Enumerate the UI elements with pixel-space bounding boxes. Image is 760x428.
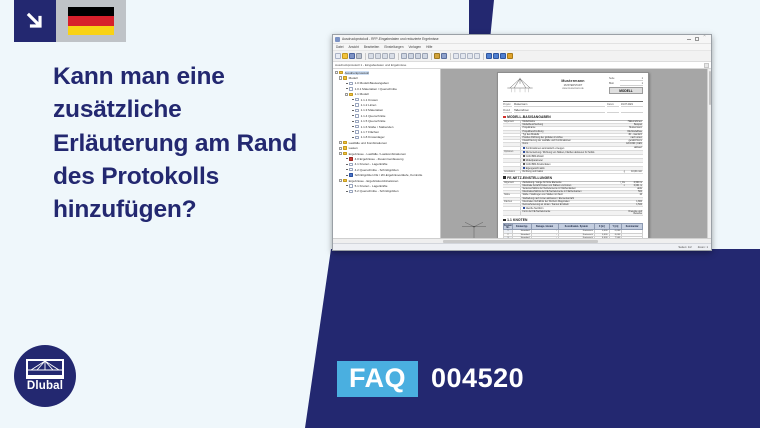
statusbar: Seiten: 1/2 Zoom: 1 [333,243,711,250]
row-desc: Richtung und Faktor [521,171,617,173]
logo-text: Dlubal [27,381,63,393]
tree-item-label: Ergebnisse - Lastfälle / Lastkombination… [349,152,406,156]
truss-bridge-icon [26,359,64,379]
section-marker-icon [503,176,506,179]
report-page: Mustermann MUSTERSTADT www.mustermann.de… [497,72,649,238]
row-value: aktiviert [625,147,643,150]
row-value [625,167,643,170]
tree-item-label: 1.1.6 Stäbe / Stabenden [361,125,394,129]
row-value: EN 1990 | CEN [625,143,643,145]
row-desc: Maximale Anzahl Knoten von Stäben und Li… [521,185,617,187]
folder-icon [349,93,353,96]
row-value [625,159,643,162]
menu-item-vorlagen[interactable]: Vorlagen [408,45,421,49]
row-value: 10,00 m/s² [625,171,643,173]
last-page-icon[interactable] [389,53,395,59]
row-lead [503,134,521,136]
report-company-city: MUSTERSTADT [540,84,606,87]
row-desc: Modellbeschreibung [521,124,617,126]
save-icon[interactable] [349,53,355,59]
row-desc-text: FE-Vernetzung / Richtung von Stäben, Flä… [526,152,595,154]
row-desc: Modellparameter [521,159,617,162]
field-value: 1 [620,77,643,81]
expand-toggle-icon [345,82,348,85]
row-value: gemäß Norm [625,140,643,142]
meta-key-datum: Datum [607,103,619,107]
open-icon[interactable] [342,53,348,59]
row-value: 10 [625,194,643,196]
section-title: 1.1 KNOTEN [507,218,527,222]
row-value [625,163,643,166]
word-export-icon[interactable] [474,53,480,59]
row-desc: Projektname [521,127,617,129]
expand-toggle-icon [345,87,348,90]
report-company-name: Mustermann [540,79,606,83]
document-icon [349,184,353,187]
document-icon [349,190,353,193]
section-marker-icon [503,116,506,119]
cut-icon[interactable] [441,53,447,59]
meta-value-datum: 19.07.2021 [621,103,643,107]
row-lead [503,163,521,166]
row-lead: Gravitation [503,171,521,173]
row-desc-text: CAD-/BIM-Strukturdaten [526,164,551,166]
row-lead [503,124,521,126]
tree-item-label: Ausdruckprotokoll [345,71,369,75]
row-unit: n [617,185,625,187]
row-desc: CAD-/BIM-Strukturdaten [521,163,617,166]
tree-item-label: 1.1.1 Knoten [361,98,378,102]
faq-label: FAQ [337,361,418,397]
language-flag-germany [56,0,126,42]
document-icon [349,168,353,171]
row-unit [617,194,625,196]
report-header-field-seite: Seite 1 [609,77,643,81]
row-lead: Allgemein [503,121,521,123]
meta-value-modell: Hallenrahmen [514,109,605,113]
toolbar-separator [483,53,484,60]
toolbar[interactable] [333,51,711,62]
document-icon [355,103,359,106]
expand-toggle-icon [345,174,348,177]
window-controls[interactable] [687,37,709,41]
row-desc: Typ des Modells [521,134,617,136]
row-value [625,198,643,200]
checkbox-icon [523,159,525,161]
row-desc: Gleiche Netzform [521,207,617,210]
table-body: 1 Standard - Kartesisch 0,000 0,000 2 St… [504,229,643,238]
row-unit [617,134,625,136]
row-value [625,207,643,210]
expand-toggle-icon[interactable] [339,76,342,79]
menu-item-ansicht[interactable]: Ansicht [348,45,358,49]
minimize-icon[interactable] [687,37,691,41]
expand-toggle-icon [351,98,354,101]
menu-item-einstellungen[interactable]: Einstellungen [384,45,403,49]
meta-key-projekt: Projekt [503,103,512,107]
expand-toggle-icon [351,130,354,133]
expand-toggle-icon [351,114,354,117]
report-header-field-blatt: Blatt 1 [609,82,643,86]
arrow-down-right-icon [14,0,56,42]
row-unit [617,131,625,133]
status-zoom: Zoom: 1 [698,245,708,249]
row-desc: Stäbe / Stabzugen von Stäben mit Netz [521,194,617,196]
row-lead: Allgemein [503,182,521,184]
expand-toggle-icon [345,168,348,171]
window-titlebar: Ausdruckprotokoll - RFP-Eingabedaten und… [333,35,711,44]
application-window: Ausdruckprotokoll - RFP-Eingabedaten und… [332,34,712,251]
document-icon [349,82,353,85]
row-unit [617,211,625,215]
document-icon [349,87,353,90]
print-icon[interactable] [356,53,362,59]
row-desc: CAD-/BIM-Modell [521,155,617,158]
tree-item-label: 1.1.8 Knotenlager [361,135,385,139]
checkbox-icon [523,155,525,157]
tree-item-label: 1.0 Modell-Basisangaben [355,81,389,85]
tree-item-label: 4.1 Knoten - Lagerkräfte [355,162,388,166]
row-lead: Stäbe [503,194,521,196]
dlubal-logo: Dlubal [14,345,76,407]
checkbox-icon [523,163,525,165]
tree-item-label: 4.0 Ergebnisse - Zusammenfassung [355,157,404,161]
section-title: MODELL-BASISANGABEN [507,115,551,119]
row-desc: Projektbeschreibung [521,131,617,133]
row-unit [617,124,625,126]
document-icon [355,120,359,123]
tree-item-label: 1.1.5 Querschnitte [361,119,386,123]
badge-row [14,0,126,42]
row-value: 3D - räumlich [625,134,643,136]
scrollbar-thumb[interactable] [709,71,711,105]
report-company-block: Mustermann MUSTERSTADT www.mustermann.de [540,77,606,90]
row-desc-text: Eigengewicht aktiv [526,168,545,170]
copy-icon[interactable] [453,53,459,59]
row-lead [503,140,521,142]
tree-item-label: 1.1.3 Materialien [361,108,384,112]
row-desc: Seitenverhältnis der Netzelemente in Flä… [521,188,617,190]
horizontal-scrollbar[interactable] [333,238,711,243]
tree-item-label: 4.2 Querschnitte - Schnittgrößen [355,168,399,172]
row-lead [503,211,521,215]
folder-icon [343,76,347,79]
chevron-down-icon[interactable] [704,63,709,68]
address-bar[interactable]: Ausdruckprotokoll 1 - Eingabedaten und E… [333,62,711,69]
refresh-icon[interactable] [500,53,506,59]
printout-report-icon [335,37,340,42]
row-value: 500 [625,191,643,193]
expand-toggle-icon[interactable] [345,93,348,96]
tree-item-label: 1.0.1 Materialien / Querschnitte [355,87,397,91]
toolbar-separator [398,53,399,60]
section-header-knoten: 1.1 KNOTEN [503,218,643,222]
expand-toggle-icon [351,125,354,128]
maximize-icon[interactable] [695,37,699,41]
expand-toggle-icon [345,184,348,187]
row-lead [503,207,521,210]
toolbar-separator [431,53,432,60]
row-desc: Maximales Verhältnis der FE-Netz-Diagona… [521,201,617,203]
row-lead [503,185,521,187]
row-value: 1,500 [625,204,643,206]
folder-icon [343,146,347,149]
field-key: Seite [609,77,618,81]
blue-report-icon [349,173,353,176]
application-body: Ausdruckprotokoll Modell 1.0 Modell-Basi… [333,69,711,238]
row-unit [617,155,625,158]
field-value: 1 [620,82,643,86]
section-header-modell-basisangaben: MODELL-BASISANGABEN [503,115,643,119]
row-value: DE-Modellbau [625,131,643,133]
row-lead [503,147,521,150]
row-lead [503,204,521,206]
section-header-fe-netz-einstellungen: FE-NETZ-EINSTELLUNGEN [503,176,643,180]
meta-key-blank [607,109,619,113]
toolbar-separator [450,53,451,60]
row-lead: Flächen [503,201,521,203]
row-desc: Positive Richtung der globalen Z-Achse [521,137,617,139]
table-row: Gravitation Richtung und Faktor g 10,00 … [503,171,643,174]
expand-toggle-icon [351,120,354,123]
row-value: Dreiecke und Vierecke [625,211,643,215]
red-report-icon [349,157,353,160]
menu-item-bearbeiten[interactable]: Bearbeiten [364,45,379,49]
header-footer-icon[interactable] [493,53,499,59]
truss-bridge-inner [28,361,62,375]
row-desc-text: CAD-/BIM-Modell [526,156,544,158]
header-divider [503,101,643,102]
document-icon [355,114,359,117]
navigation-tree[interactable]: Ausdruckprotokoll Modell 1.0 Modell-Basi… [333,69,441,238]
folder-icon [339,71,343,74]
row-unit [617,143,625,145]
fit-page-icon[interactable] [415,53,421,59]
document-icon [355,130,359,133]
flag-stripe-red [68,16,114,25]
row-lead [503,198,521,200]
row-unit [617,188,625,190]
row-desc: Klassifizierung der Lastfälle und Kombin… [521,140,617,142]
row-unit [617,121,625,123]
tree-item-querschnitte-schnittgroessen-2[interactable]: 5.2 Querschnitte - Schnittgrößen [334,189,440,194]
report-preview-viewer[interactable]: Mustermann MUSTERSTADT www.mustermann.de… [441,69,711,238]
meta-value-projekt: Mustermann [514,103,605,107]
row-lead [503,143,521,145]
scrollbar-thumb[interactable] [443,240,598,243]
tree-item-label: Ergebnisse - Ergebniskombinationen [349,179,399,183]
table-row: Form der FE-Netzelemente Dreiecke und Vi… [503,211,643,216]
row-value: Mustermann [625,127,643,129]
expand-toggle-icon [351,103,354,106]
row-lead [503,155,521,158]
row-lead [503,137,521,139]
tree-item-label: 5.1 Knoten - Lagerkräfte [355,184,388,188]
expand-toggle-icon [351,109,354,112]
folder-icon [343,141,347,144]
checkbox-icon [523,207,525,209]
document-icon [349,163,353,166]
document-icon [355,136,359,139]
pdf-export-icon[interactable] [467,53,473,59]
expand-toggle-icon [345,157,348,160]
page-title: Kann man eine zusätzliche Erläuterung am… [53,60,323,227]
flag-stripe-black [68,7,114,16]
report-company-web: www.mustermann.de [540,88,606,90]
settings-icon[interactable] [486,53,492,59]
report-meta-row: Projekt Mustermann Datum 19.07.2021 [503,103,643,107]
expand-toggle-icon[interactable] [335,71,338,74]
row-unit [617,163,625,166]
row-desc: Zielleistung / Länge für finite Elemente [521,182,617,184]
structure-sketch-icon [503,77,537,99]
document-icon [355,98,359,101]
tree-item-label: Lasten [349,146,358,150]
tree-item-label: 1.1 Modell [355,92,369,96]
row-unit [617,198,625,200]
row-unit [617,191,625,193]
row-desc: FE-Vernetzung / Richtung von Stäben, Flä… [521,151,617,154]
row-unit [617,207,625,210]
report-page-header: Mustermann MUSTERSTADT www.mustermann.de… [503,77,643,99]
faq-number: 004520 [418,361,524,397]
row-lead [503,167,521,170]
row-lead [503,127,521,129]
menu-item-datei[interactable]: Datei [336,45,343,49]
zoom-in-icon[interactable] [408,53,414,59]
row-unit [617,137,625,139]
tree-item-label: Modell [349,76,358,80]
row-value [625,151,643,154]
help-icon[interactable] [507,53,513,59]
row-desc: Kombinationen automatisch erzeugen [521,147,617,150]
checkbox-icon [523,167,525,169]
expand-toggle-icon[interactable] [339,141,342,144]
folder-icon [343,179,347,182]
row-desc: Eigengewicht aktiv [521,167,617,170]
row-lead: Optionen [503,151,521,154]
document-icon [355,109,359,112]
row-unit [617,147,625,150]
folder-icon [343,152,347,155]
truss-bridge-deck [26,376,64,379]
close-icon[interactable] [703,37,707,41]
knoten-table: Knoten Nr. Knotentyp Bezugs- knoten Koor… [503,223,643,238]
row-unit [617,140,625,142]
section-marker-icon [503,219,506,222]
fit-width-icon[interactable] [422,53,428,59]
tree-item-label: 1.1.4 Querschnitte [361,114,386,118]
vertical-scrollbar[interactable] [707,69,711,238]
model-badge: MODELL [609,87,643,94]
row-unit [617,167,625,170]
germany-flag-icon [68,7,114,35]
next-page-icon[interactable] [382,53,388,59]
meta-key-modell: Modell [503,109,512,113]
basis-rows-block: Allgemein Modellname Hallenrahmen Modell… [503,120,643,174]
status-pages: Seiten: 1/2 [678,245,691,249]
row-value: aktiv [625,188,643,190]
menubar[interactable]: Datei Ansicht Bearbeiten Einstellungen V… [333,44,711,51]
row-desc: Netzverfeinerung an Linien / Kanten Ermi… [521,204,617,206]
expand-toggle-icon[interactable] [339,179,342,182]
section-title: FE-NETZ-EINSTELLUNGEN [507,176,552,180]
row-unit [617,159,625,162]
tree-item-label: 1.1.2 Linien [361,103,377,107]
row-desc: Norm [521,143,617,145]
row-lead [503,131,521,133]
row-value [625,155,643,158]
new-icon[interactable] [335,53,341,59]
slide-canvas: Kann man eine zusätzliche Erläuterung am… [0,0,760,428]
selection-icon[interactable] [434,53,440,59]
checkbox-icon [523,151,525,153]
row-lead [503,159,521,162]
window-title: Ausdruckprotokoll - RFP-Eingabedaten und… [342,37,439,41]
faq-footer: FAQ 004520 [337,361,524,397]
expand-toggle-icon [345,190,348,193]
tree-item-label: Schnittgrößen FE / 2D-Ergebnisverläufe, … [355,173,423,177]
tree-item-label: 1.1.7 Flächen [361,130,379,134]
row-value: 0,001 m [625,185,643,187]
report-meta-row-2: Modell Hallenrahmen [503,109,643,113]
menu-item-hilfe[interactable]: Hilfe [426,45,432,49]
toolbar-separator [365,53,366,60]
prev-page-icon[interactable] [375,53,381,59]
row-value: 1,800 [625,201,643,203]
row-unit [617,201,625,203]
row-unit: l_FE [617,182,625,184]
row-value: 0,500 m [625,182,643,184]
row-desc-text: Gleiche Netzform [526,208,544,210]
row-lead [503,188,521,190]
first-page-icon[interactable] [368,53,374,59]
row-unit [617,127,625,129]
expand-toggle-icon[interactable] [339,147,342,150]
document-icon [355,125,359,128]
zoom-out-icon[interactable] [401,53,407,59]
expand-toggle-icon [345,163,348,166]
tree-item-label: 5.2 Querschnitte - Schnittgrößen [355,189,399,193]
model-sketch-figure [459,219,489,238]
row-unit: g [617,171,625,173]
address-bar-value: Ausdruckprotokoll 1 - Eingabedaten und E… [335,63,406,67]
row-unit [617,151,625,154]
field-key: Blatt [609,82,618,86]
row-value: nach unten [625,137,643,139]
row-desc-text: Kombinationen automatisch erzeugen [526,148,565,150]
row-desc: Stabteilung nach Linien aktivieren / Ele… [521,198,617,200]
flag-stripe-gold [68,26,114,35]
row-desc: Modellname [521,121,617,123]
paste-icon[interactable] [460,53,466,59]
expand-toggle-icon[interactable] [339,152,342,155]
row-value: Hallenrahmen [625,121,643,123]
tree-item-label: Lastfälle und Kombinationen [349,141,387,145]
row-desc: Form der FE-Netzelemente [521,211,617,215]
report-header-fields: Seite 1 Blatt 1 MODELL [609,77,643,94]
row-desc-text: Modellparameter [526,160,543,162]
fe-rows-block: Allgemein Zielleistung / Länge für finit… [503,181,643,217]
checkbox-icon [523,147,525,149]
expand-toggle-icon [351,136,354,139]
row-unit [617,204,625,206]
meta-value-blank [621,109,643,113]
